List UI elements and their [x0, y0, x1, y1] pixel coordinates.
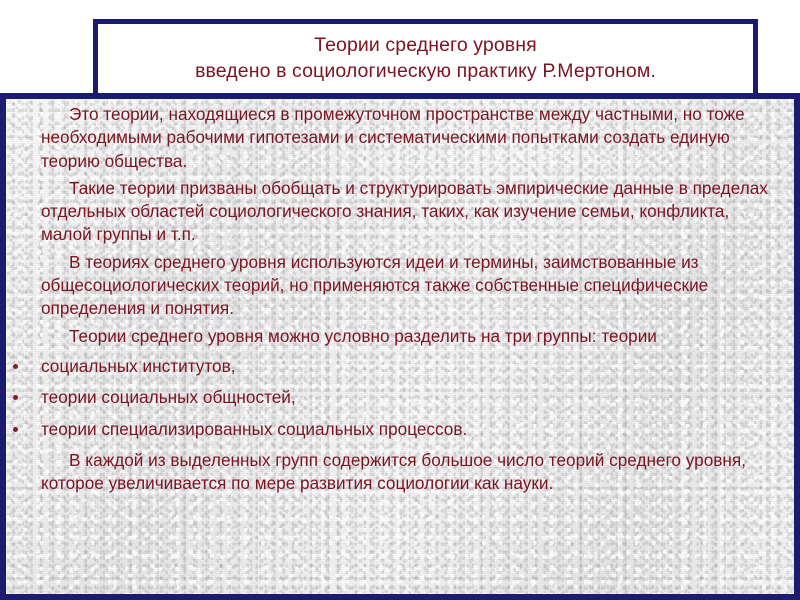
list-item-label: теории специализированных социальных про…	[41, 419, 467, 439]
paragraph-4: Теории среднего уровня можно условно раз…	[6, 325, 774, 348]
bullet-dot-icon	[13, 427, 18, 432]
bullet-dot-icon	[13, 364, 18, 369]
list-item-label: теории социальных общностей,	[41, 387, 296, 407]
closing-paragraph: В каждой из выделенных групп содержится …	[6, 449, 774, 496]
list-item: социальных институтов,	[6, 355, 774, 378]
paragraph-3: В теориях среднего уровня используются и…	[6, 251, 774, 321]
bullet-dot-icon	[13, 395, 18, 400]
paragraph-2: Такие теории призваны обобщать и структу…	[6, 177, 774, 247]
slide: Теории среднего уровня введено в социоло…	[0, 0, 800, 600]
list-item-label: социальных институтов,	[41, 356, 236, 376]
list-item: теории специализированных социальных про…	[6, 418, 774, 441]
body-content: Это теории, находящиеся в промежуточном …	[6, 99, 794, 495]
paragraph-1: Это теории, находящиеся в промежуточном …	[6, 103, 774, 173]
theory-groups-list: социальных институтов, теории социальных…	[6, 355, 774, 441]
slide-body: Это теории, находящиеся в промежуточном …	[0, 99, 800, 600]
list-item: теории социальных общностей,	[6, 386, 774, 409]
title-box: Теории среднего уровня введено в социоло…	[93, 19, 758, 93]
title-band: Теории среднего уровня введено в социоло…	[0, 0, 800, 93]
page-title: Теории среднего уровня введено в социоло…	[185, 33, 666, 84]
